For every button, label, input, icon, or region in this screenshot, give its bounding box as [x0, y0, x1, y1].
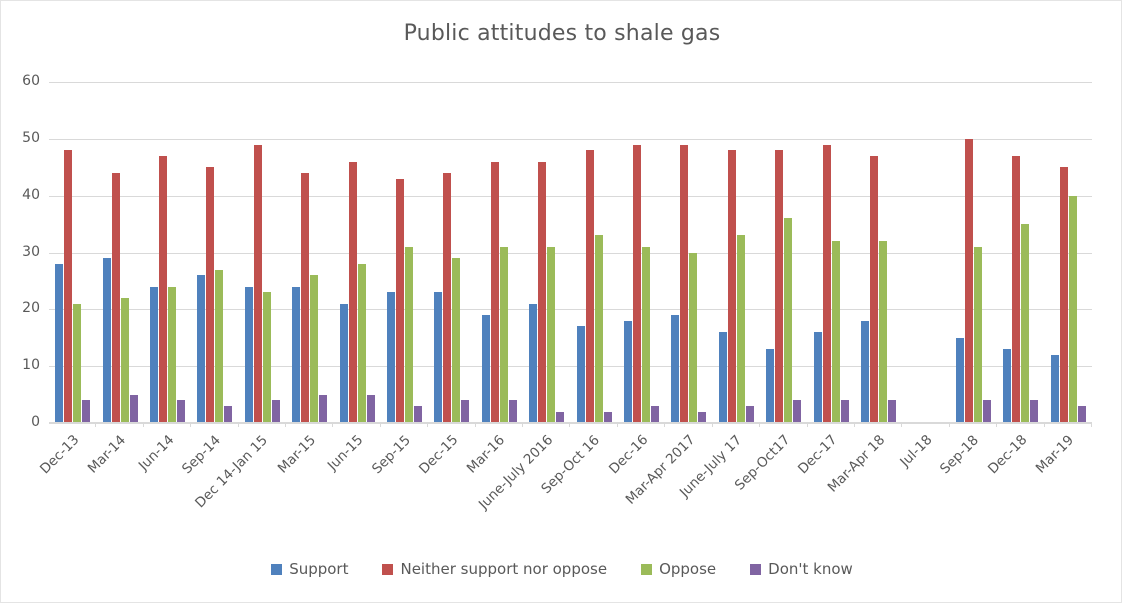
x-axis-tick — [476, 422, 523, 427]
bar-oppose[interactable] — [595, 235, 603, 423]
x-axis-label-cell: Sep-Oct 16 — [570, 430, 617, 530]
x-axis-tick — [902, 422, 949, 427]
bar-neither-support-nor-oppose[interactable] — [775, 150, 783, 423]
x-axis-label-cell: Mar-Apr 18 — [855, 430, 902, 530]
bar-oppose[interactable] — [832, 241, 840, 423]
bar-series-layer — [49, 82, 1092, 423]
bar-support[interactable] — [624, 321, 632, 423]
x-axis-labels: Dec-13Mar-14Jun-14Sep-14Dec 14-Jan 15Mar… — [49, 430, 1092, 530]
bar-neither-support-nor-oppose[interactable] — [396, 179, 404, 423]
x-axis-label-cell: Jun-15 — [333, 430, 380, 530]
x-axis-tick — [191, 422, 238, 427]
chart-legend: SupportNeither support nor opposeOpposeD… — [1, 560, 1122, 578]
bar-don-t-know[interactable] — [414, 406, 422, 423]
bar-oppose[interactable] — [358, 264, 366, 423]
bar-support[interactable] — [529, 304, 537, 423]
bar-neither-support-nor-oppose[interactable] — [254, 145, 262, 423]
bar-support[interactable] — [103, 258, 111, 423]
x-axis-tick — [96, 422, 143, 427]
bar-oppose[interactable] — [73, 304, 81, 423]
legend-swatch-icon — [750, 564, 761, 575]
bar-oppose[interactable] — [642, 247, 650, 423]
bar-support[interactable] — [197, 275, 205, 423]
bar-group — [902, 82, 949, 423]
x-axis-label-cell: Jul-18 — [902, 430, 949, 530]
bar-oppose[interactable] — [689, 253, 697, 424]
y-axis-tick-label: 40 — [4, 187, 40, 203]
bar-oppose[interactable] — [121, 298, 129, 423]
bar-support[interactable] — [387, 292, 395, 423]
x-axis-tick — [855, 422, 902, 427]
x-axis-tick-label: Jul-18 — [897, 432, 935, 470]
x-axis-tick — [950, 422, 997, 427]
x-axis-tick — [144, 422, 191, 427]
bar-neither-support-nor-oppose[interactable] — [112, 173, 120, 423]
bar-group — [286, 82, 333, 423]
x-axis-tick — [713, 422, 760, 427]
bar-don-t-know[interactable] — [746, 406, 754, 423]
bar-group — [96, 82, 143, 423]
y-axis-tick-label: 0 — [4, 414, 40, 430]
bar-support[interactable] — [1003, 349, 1011, 423]
bar-oppose[interactable] — [737, 235, 745, 423]
bar-support[interactable] — [245, 287, 253, 423]
bar-don-t-know[interactable] — [461, 400, 469, 423]
bar-support[interactable] — [861, 321, 869, 423]
x-axis-tick — [760, 422, 807, 427]
bar-don-t-know[interactable] — [1030, 400, 1038, 423]
bar-group — [618, 82, 665, 423]
bar-oppose[interactable] — [405, 247, 413, 423]
x-axis-tick — [428, 422, 475, 427]
x-axis-label-cell: Jun-14 — [144, 430, 191, 530]
x-axis-label-cell: Dec-18 — [997, 430, 1044, 530]
bar-group — [808, 82, 855, 423]
bar-group — [49, 82, 96, 423]
bar-support[interactable] — [434, 292, 442, 423]
bar-don-t-know[interactable] — [319, 395, 327, 423]
bar-neither-support-nor-oppose[interactable] — [823, 145, 831, 423]
bar-group — [476, 82, 523, 423]
x-axis-label-cell: Sep-18 — [950, 430, 997, 530]
legend-label: Don't know — [768, 560, 853, 578]
bar-neither-support-nor-oppose[interactable] — [728, 150, 736, 423]
bar-don-t-know[interactable] — [841, 400, 849, 423]
legend-label: Oppose — [659, 560, 716, 578]
y-axis-tick-label: 20 — [4, 300, 40, 316]
bar-oppose[interactable] — [168, 287, 176, 423]
bar-support[interactable] — [482, 315, 490, 423]
bar-neither-support-nor-oppose[interactable] — [349, 162, 357, 423]
legend-item[interactable]: Don't know — [750, 560, 853, 578]
bar-group — [428, 82, 475, 423]
bar-group — [950, 82, 997, 423]
chart-title: Public attitudes to shale gas — [1, 21, 1122, 46]
x-axis-tick-label: Dec-13 — [37, 432, 82, 477]
bar-oppose[interactable] — [784, 218, 792, 423]
x-axis-tick — [570, 422, 617, 427]
bar-oppose[interactable] — [879, 241, 887, 423]
bar-don-t-know[interactable] — [651, 406, 659, 423]
bar-don-t-know[interactable] — [130, 395, 138, 423]
y-axis-tick-label: 30 — [4, 244, 40, 260]
bar-support[interactable] — [340, 304, 348, 423]
bar-group — [239, 82, 286, 423]
bar-support[interactable] — [671, 315, 679, 423]
bar-group — [997, 82, 1044, 423]
bar-support[interactable] — [150, 287, 158, 423]
bar-neither-support-nor-oppose[interactable] — [206, 167, 214, 423]
legend-swatch-icon — [641, 564, 652, 575]
bar-support[interactable] — [1051, 355, 1059, 423]
bar-group — [570, 82, 617, 423]
bar-oppose[interactable] — [263, 292, 271, 423]
y-axis-tick-label: 60 — [4, 73, 40, 89]
bar-group — [144, 82, 191, 423]
bar-don-t-know[interactable] — [82, 400, 90, 423]
x-axis-ticks — [49, 422, 1092, 427]
tick-mark — [1091, 422, 1092, 427]
bar-group — [191, 82, 238, 423]
x-axis-label-cell: Sep-Oct17 — [760, 430, 807, 530]
x-axis-tick — [239, 422, 286, 427]
bar-neither-support-nor-oppose[interactable] — [159, 156, 167, 423]
bar-support[interactable] — [814, 332, 822, 423]
bar-oppose[interactable] — [1021, 224, 1029, 423]
x-axis-tick — [49, 422, 96, 427]
bar-don-t-know[interactable] — [272, 400, 280, 423]
bar-oppose[interactable] — [1069, 196, 1077, 423]
bar-oppose[interactable] — [500, 247, 508, 423]
bar-support[interactable] — [956, 338, 964, 423]
bar-neither-support-nor-oppose[interactable] — [965, 139, 973, 423]
bar-neither-support-nor-oppose[interactable] — [1012, 156, 1020, 423]
bar-support[interactable] — [719, 332, 727, 423]
x-axis-label-cell: Dec-15 — [428, 430, 475, 530]
x-axis-label-cell: Sep-15 — [381, 430, 428, 530]
bar-oppose[interactable] — [547, 247, 555, 423]
x-axis-label-cell: Mar-14 — [96, 430, 143, 530]
bar-group — [523, 82, 570, 423]
legend-label: Neither support nor oppose — [400, 560, 607, 578]
bar-don-t-know[interactable] — [983, 400, 991, 423]
bar-don-t-know[interactable] — [224, 406, 232, 423]
x-axis-tick — [333, 422, 380, 427]
bar-neither-support-nor-oppose[interactable] — [1060, 167, 1068, 423]
bar-neither-support-nor-oppose[interactable] — [633, 145, 641, 423]
bar-group — [713, 82, 760, 423]
bar-support[interactable] — [766, 349, 774, 423]
legend-item[interactable]: Neither support nor oppose — [382, 560, 607, 578]
x-axis-label-cell: Dec-13 — [49, 430, 96, 530]
bar-neither-support-nor-oppose[interactable] — [680, 145, 688, 423]
legend-label: Support — [289, 560, 348, 578]
bar-don-t-know[interactable] — [509, 400, 517, 423]
x-axis-tick — [1045, 422, 1092, 427]
plot-area: 0102030405060 — [49, 82, 1092, 423]
legend-item[interactable]: Support — [271, 560, 348, 578]
x-axis-label-cell: Dec 14-Jan 15 — [239, 430, 286, 530]
bar-oppose[interactable] — [974, 247, 982, 423]
bar-don-t-know[interactable] — [177, 400, 185, 423]
bar-group — [855, 82, 902, 423]
bar-support[interactable] — [577, 326, 585, 423]
bar-support[interactable] — [292, 287, 300, 423]
legend-swatch-icon — [271, 564, 282, 575]
x-axis-tick — [618, 422, 665, 427]
x-axis-tick — [665, 422, 712, 427]
bar-neither-support-nor-oppose[interactable] — [586, 150, 594, 423]
legend-item[interactable]: Oppose — [641, 560, 716, 578]
chart-container: Public attitudes to shale gas 0102030405… — [0, 0, 1122, 603]
bar-neither-support-nor-oppose[interactable] — [443, 173, 451, 423]
bar-group — [333, 82, 380, 423]
x-axis-tick — [808, 422, 855, 427]
bar-neither-support-nor-oppose[interactable] — [301, 173, 309, 423]
bar-don-t-know[interactable] — [367, 395, 375, 423]
x-axis-tick — [381, 422, 428, 427]
bar-neither-support-nor-oppose[interactable] — [870, 156, 878, 423]
bar-oppose[interactable] — [215, 270, 223, 423]
x-axis-tick — [997, 422, 1044, 427]
bar-support[interactable] — [55, 264, 63, 423]
bar-neither-support-nor-oppose[interactable] — [491, 162, 499, 423]
bar-oppose[interactable] — [310, 275, 318, 423]
y-axis-tick-label: 50 — [4, 130, 40, 146]
y-axis-tick-label: 10 — [4, 357, 40, 373]
x-axis-tick — [523, 422, 570, 427]
bar-oppose[interactable] — [452, 258, 460, 423]
bar-neither-support-nor-oppose[interactable] — [64, 150, 72, 423]
x-axis-label-cell: Mar-19 — [1045, 430, 1092, 530]
bar-group — [760, 82, 807, 423]
bar-don-t-know[interactable] — [888, 400, 896, 423]
bar-group — [381, 82, 428, 423]
x-axis-tick — [286, 422, 333, 427]
bar-group — [1045, 82, 1092, 423]
legend-swatch-icon — [382, 564, 393, 575]
bar-neither-support-nor-oppose[interactable] — [538, 162, 546, 423]
bar-don-t-know[interactable] — [793, 400, 801, 423]
bar-group — [665, 82, 712, 423]
bar-don-t-know[interactable] — [1078, 406, 1086, 423]
x-axis-label-cell: Mar-15 — [286, 430, 333, 530]
